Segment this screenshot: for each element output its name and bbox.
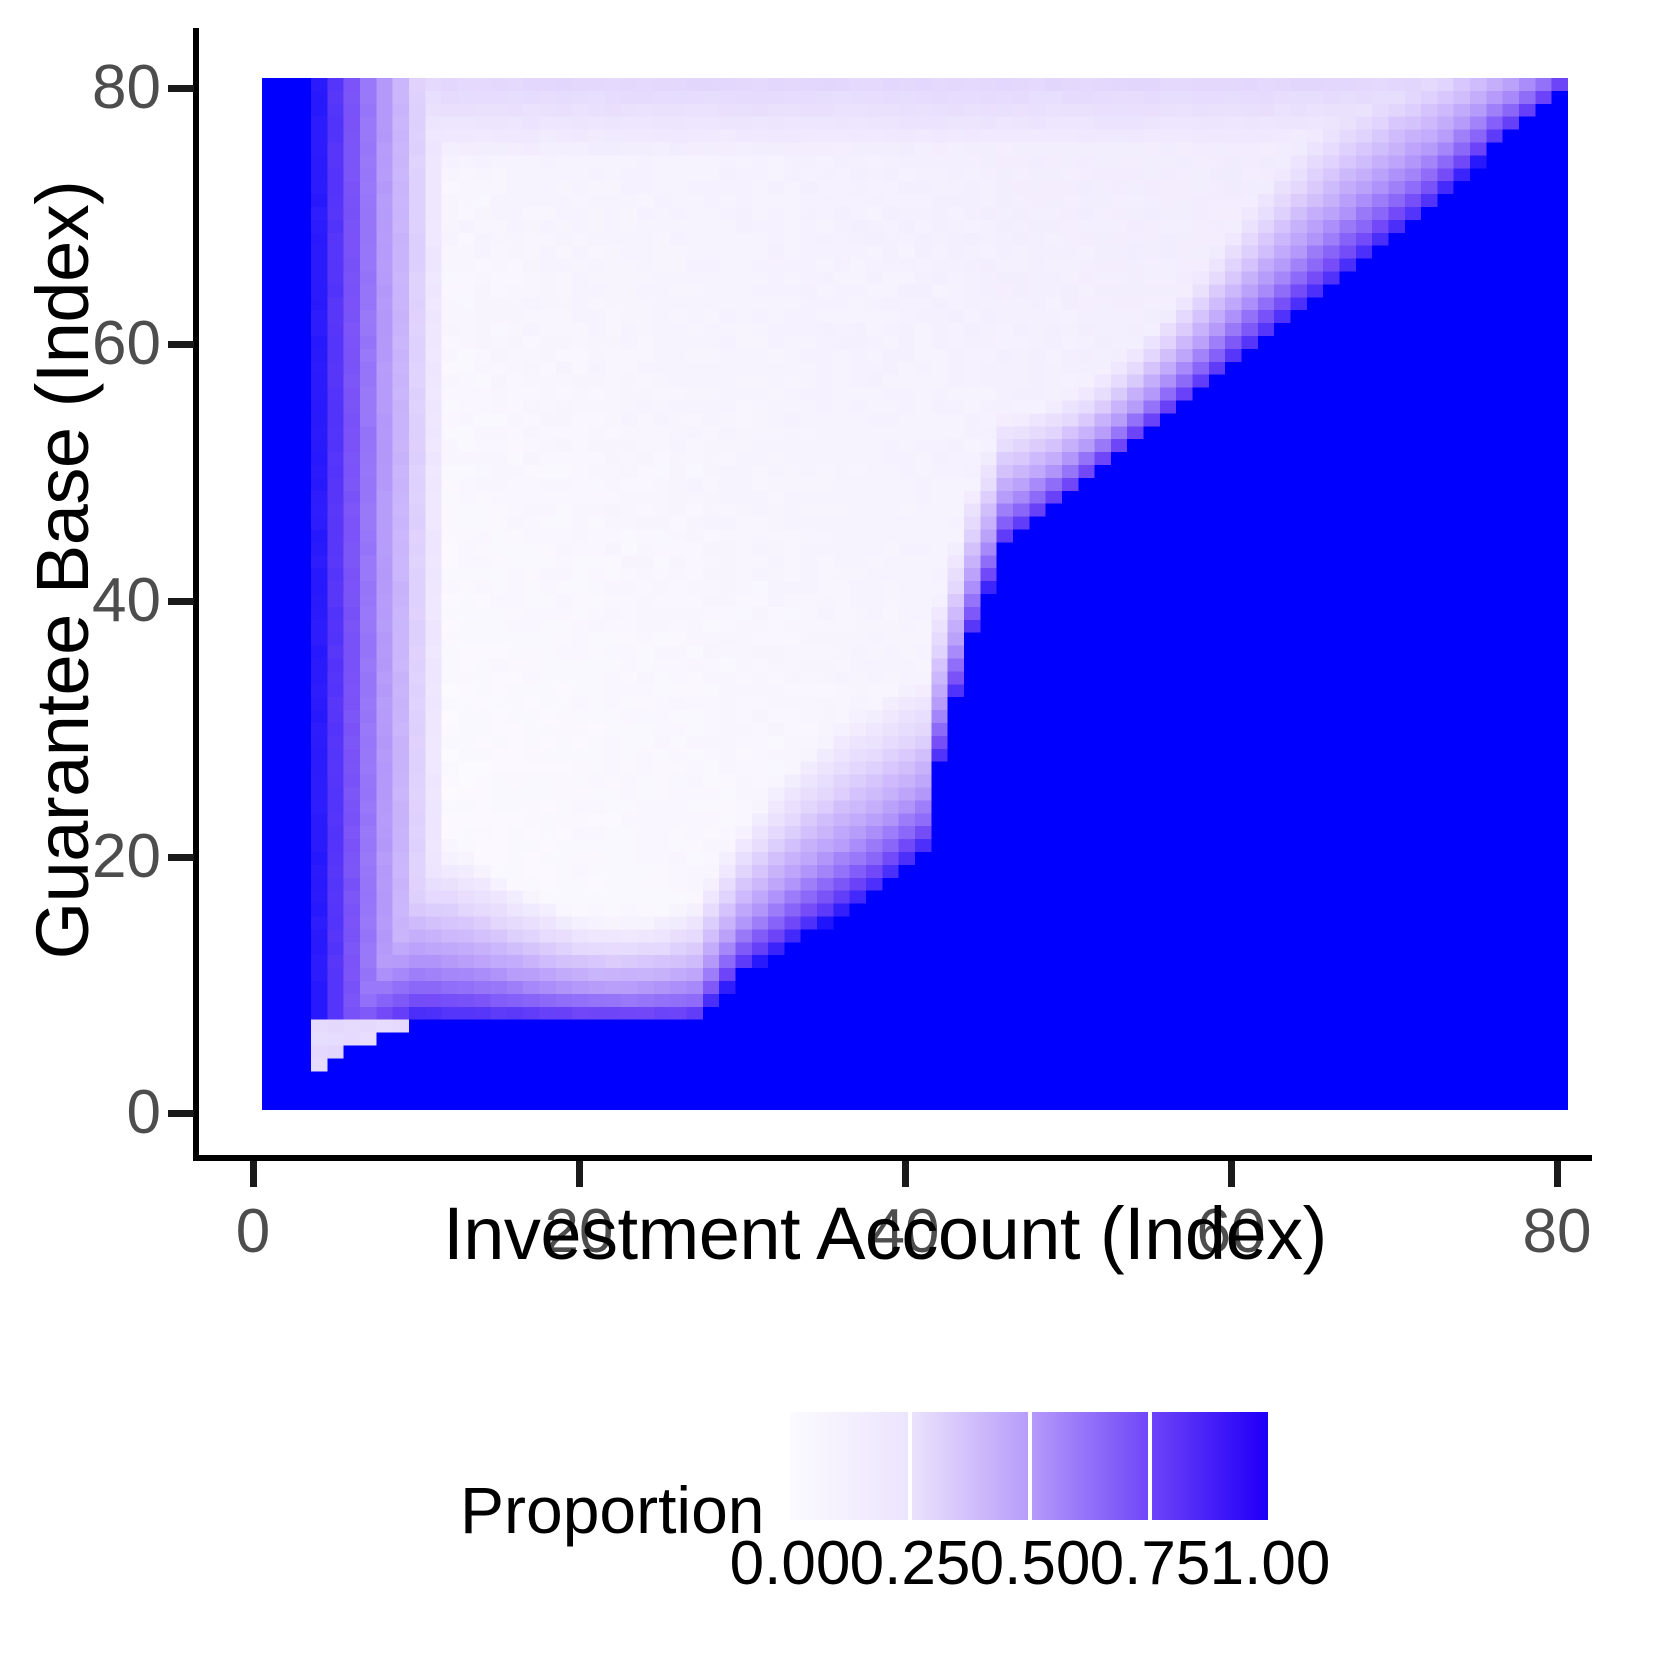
y-tick-mark <box>168 598 194 605</box>
y-tick-label: 40 <box>0 565 161 636</box>
chart-root: Guarantee Base (Index) 020406080 0204060… <box>0 0 1661 1661</box>
legend-tick-mark <box>1148 1412 1152 1520</box>
y-tick-label: 0 <box>0 1077 161 1148</box>
heatmap-plot-area <box>262 78 1568 1110</box>
y-tick-mark <box>168 85 194 92</box>
y-tick-label: 80 <box>0 52 161 123</box>
y-tick-mark <box>168 854 194 861</box>
y-tick-mark <box>168 341 194 348</box>
x-tick-mark <box>576 1161 583 1187</box>
legend-tick-mark <box>1028 1412 1032 1520</box>
legend: Proportion 0.000.250.500.751.00 <box>460 1400 1320 1580</box>
y-tick-label: 60 <box>0 308 161 379</box>
legend-tick-label: 1.00 <box>1170 1528 1370 1599</box>
y-axis-line <box>193 28 199 1160</box>
x-tick-mark <box>902 1161 909 1187</box>
x-tick-mark <box>1554 1161 1561 1187</box>
x-tick-mark <box>250 1161 257 1187</box>
x-tick-mark <box>1228 1161 1235 1187</box>
y-tick-mark <box>168 1110 194 1117</box>
y-tick-label: 20 <box>0 821 161 892</box>
legend-tick-mark <box>908 1412 912 1520</box>
legend-tick-mark <box>1268 1412 1272 1520</box>
x-axis-title: Investment Account (Index) <box>195 1188 1575 1278</box>
x-axis-line <box>193 1155 1592 1161</box>
